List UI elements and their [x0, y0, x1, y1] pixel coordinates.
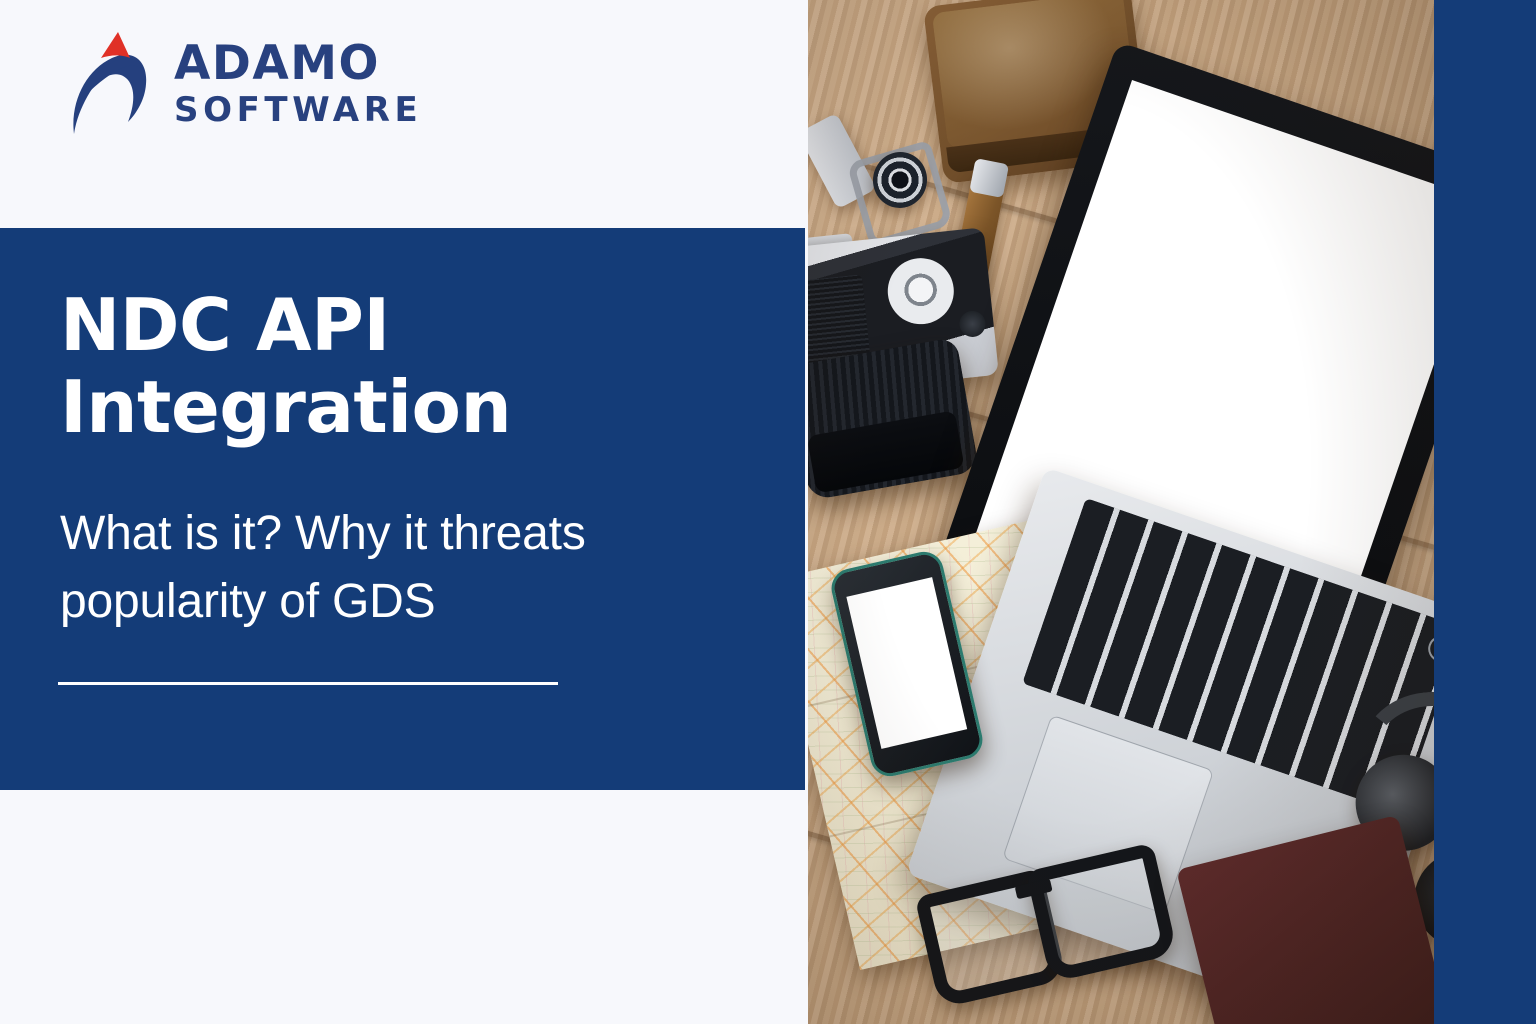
- brand-name-line1: ADAMO: [174, 40, 422, 87]
- adamo-swoosh-logo-icon: [60, 28, 158, 138]
- hero-text-panel: NDC API Integration What is it? Why it t…: [0, 228, 805, 790]
- banner-root: PASSPORT ADAMO SOFTWARE NDC API Integrat…: [0, 0, 1536, 1024]
- phone-screen-blank: [846, 577, 967, 749]
- brand-name-line2: SOFTWARE: [174, 93, 422, 127]
- right-accent-bar: [1434, 0, 1536, 1024]
- brand-logo[interactable]: ADAMO SOFTWARE: [60, 28, 422, 138]
- hero-photo: PASSPORT: [805, 0, 1434, 1024]
- brand-wordmark: ADAMO SOFTWARE: [174, 40, 422, 127]
- title-divider: [58, 682, 558, 685]
- left-content-column: ADAMO SOFTWARE NDC API Integration What …: [0, 0, 808, 1024]
- page-subtitle: What is it? Why it threats popularity of…: [60, 500, 780, 636]
- knife-bolster: [969, 158, 1009, 198]
- page-title: NDC API Integration: [60, 284, 760, 448]
- camera-lens: [805, 337, 979, 501]
